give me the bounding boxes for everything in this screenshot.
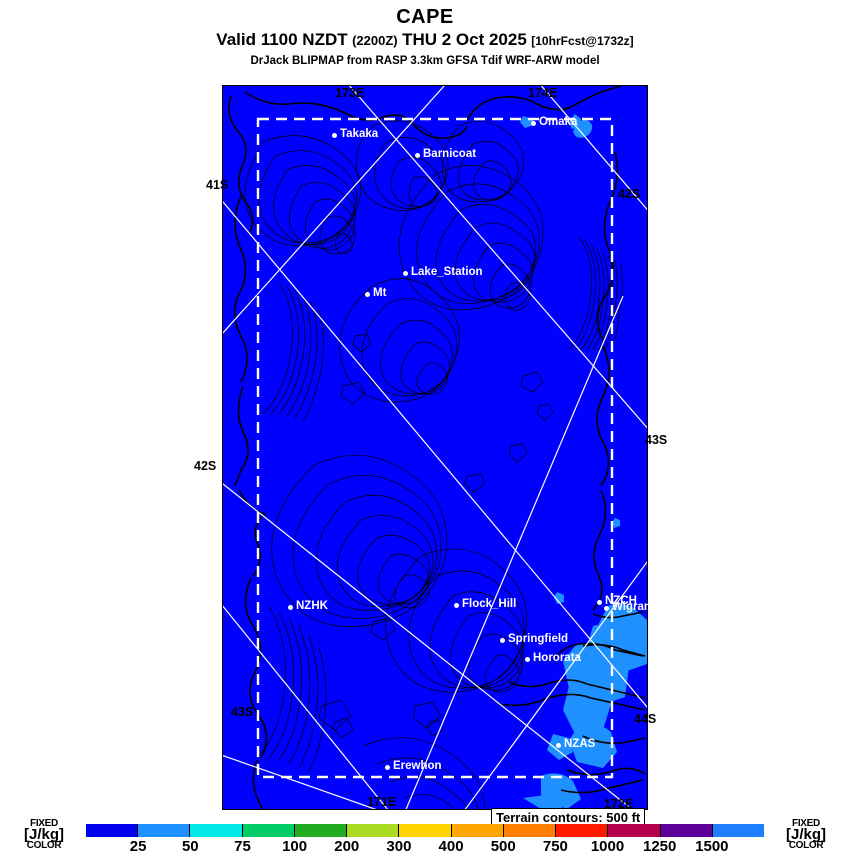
station-dot-icon (597, 600, 602, 605)
colorbar-strip (86, 824, 764, 837)
station-dot-icon (288, 605, 293, 610)
colorbar-swatch-6 (399, 824, 451, 837)
colorbar-swatch-5 (347, 824, 399, 837)
station-label: Wigram (612, 601, 654, 613)
graticule-label-171e-8: 171E (367, 795, 396, 809)
colorbar-swatch-3 (243, 824, 295, 837)
station-dot-icon (385, 765, 390, 770)
station-label: Barnicoat (423, 148, 476, 160)
graticule-label-174e-1: 174E (528, 86, 557, 100)
map-canvas[interactable] (222, 85, 648, 810)
graticule-label-41s-2: 41S (206, 178, 228, 192)
station-dot-icon (332, 133, 337, 138)
colorbar-swatch-4 (295, 824, 347, 837)
colorbar-swatch-12 (713, 824, 764, 837)
colorbar-swatch-0 (86, 824, 138, 837)
colorbar-swatch-1 (138, 824, 190, 837)
page-title: CAPE (0, 6, 850, 28)
colorbar-swatch-10 (608, 824, 660, 837)
colorbar-swatch-11 (661, 824, 713, 837)
station-dot-icon (415, 153, 420, 158)
colorbar-tick-300: 300 (386, 838, 411, 855)
graticule-label-173e-0: 173E (335, 86, 364, 100)
station-label: Hororata (533, 652, 581, 664)
colorbar-tick-labels: 255075100200300400500750100012501500 (86, 838, 764, 858)
colorbar-color-label-right: COLOR (776, 840, 836, 851)
forecast-tag: [10hrFcst@1732z] (531, 34, 633, 48)
colorbar-swatch-8 (504, 824, 556, 837)
station-dot-icon (556, 743, 561, 748)
station-label: Flock_Hill (462, 598, 516, 610)
colorbar-color-label-left: COLOR (14, 840, 74, 851)
station-dot-icon (365, 292, 370, 297)
colorbar: FIXED [J/kg] COLOR 255075100200300400500… (0, 818, 850, 860)
station-dot-icon (531, 121, 536, 126)
valid-time: Valid 1100 NZDT (216, 30, 347, 49)
station-dot-icon (525, 657, 530, 662)
subtitle: Valid 1100 NZDT (2200Z) THU 2 Oct 2025 [… (0, 29, 850, 52)
graticule-label-42s-3: 42S (618, 187, 640, 201)
colorbar-tick-1250: 1250 (643, 838, 676, 855)
colorbar-tick-25: 25 (130, 838, 147, 855)
station-dot-icon (500, 638, 505, 643)
station-label: Omaka (539, 116, 577, 128)
colorbar-swatch-7 (452, 824, 504, 837)
station-dot-icon (604, 606, 609, 611)
utc-time: (2200Z) (352, 33, 398, 48)
title-block: CAPE Valid 1100 NZDT (2200Z) THU 2 Oct 2… (0, 0, 850, 68)
colorbar-tick-75: 75 (234, 838, 251, 855)
station-dot-icon (454, 603, 459, 608)
station-label: Mt (373, 287, 386, 299)
map-graphics (223, 86, 647, 809)
forecast-date: THU 2 Oct 2025 (402, 30, 527, 49)
station-label: Lake_Station (411, 266, 483, 278)
colorbar-tick-50: 50 (182, 838, 199, 855)
colorbar-swatch-9 (556, 824, 608, 837)
graticule-label-43s-6: 43S (231, 705, 253, 719)
station-dot-icon (403, 271, 408, 276)
colorbar-units-label-left: [J/kg] (14, 829, 74, 840)
graticule-label-42s-4: 42S (194, 459, 216, 473)
colorbar-tick-400: 400 (439, 838, 464, 855)
colorbar-tick-750: 750 (543, 838, 568, 855)
station-label: Erewhon (393, 760, 442, 772)
station-label: NZAS (564, 738, 595, 750)
colorbar-tick-1000: 1000 (591, 838, 624, 855)
colorbar-swatch-2 (190, 824, 242, 837)
model-description: DrJack BLIPMAP from RASP 3.3km GFSA Tdif… (0, 54, 850, 68)
colorbar-tick-1500: 1500 (695, 838, 728, 855)
colorbar-tick-500: 500 (491, 838, 516, 855)
graticule-label-43s-5: 43S (645, 433, 667, 447)
graticule-label-44s-7: 44S (634, 712, 656, 726)
colorbar-units-label-right: [J/kg] (776, 829, 836, 840)
colorbar-tick-100: 100 (282, 838, 307, 855)
colorbar-units-left: FIXED [J/kg] COLOR (14, 818, 74, 851)
colorbar-units-right: FIXED [J/kg] COLOR (776, 818, 836, 851)
station-label: Springfield (508, 633, 568, 645)
station-label: NZHK (296, 600, 328, 612)
station-label: Takaka (340, 128, 378, 140)
colorbar-tick-200: 200 (334, 838, 359, 855)
